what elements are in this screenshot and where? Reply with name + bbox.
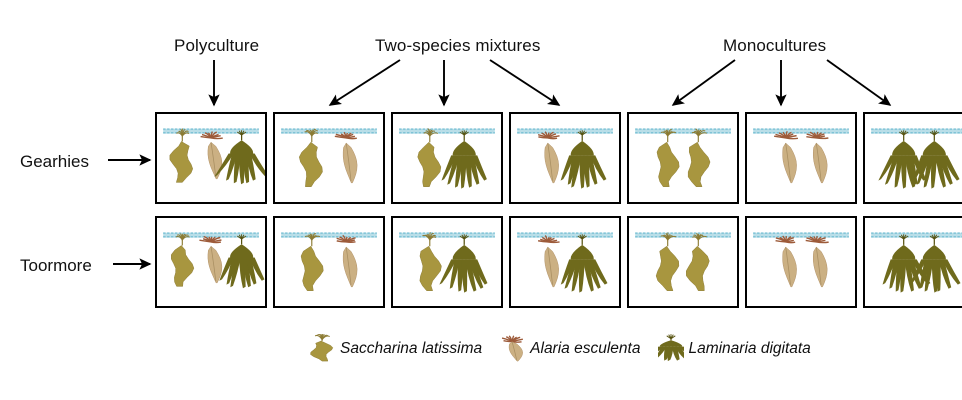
treatment-illustration	[393, 218, 501, 306]
saccharina-glyph	[310, 334, 336, 364]
panel-row-toormore	[155, 216, 962, 308]
experimental-design-figure: Polyculture Two-species mixtures Monocul…	[0, 0, 962, 400]
legend-label-laminaria: Laminaria digitata	[688, 340, 810, 358]
treatment-illustration	[275, 114, 383, 202]
treatment-panel	[273, 112, 385, 204]
group-label-polyculture: Polyculture	[174, 36, 259, 56]
legend-item-laminaria: Laminaria digitata	[658, 334, 810, 364]
treatment-panel	[391, 216, 503, 308]
treatment-illustration	[629, 218, 737, 306]
treatment-panel	[745, 112, 857, 204]
treatment-panel	[863, 216, 962, 308]
arrow-two-species-right	[490, 60, 559, 105]
treatment-panel	[509, 216, 621, 308]
treatment-panel	[273, 216, 385, 308]
treatment-illustration	[157, 218, 265, 306]
legend-item-alaria: Alaria esculenta	[500, 334, 640, 364]
treatment-illustration	[865, 114, 962, 202]
treatment-illustration	[511, 218, 619, 306]
treatment-panel	[745, 216, 857, 308]
treatment-panel	[155, 216, 267, 308]
laminaria-icon	[658, 334, 684, 364]
site-label-gearhies: Gearhies	[20, 152, 89, 172]
treatment-illustration	[157, 114, 265, 202]
legend-label-alaria: Alaria esculenta	[530, 340, 640, 358]
site-label-toormore: Toormore	[20, 256, 92, 276]
treatment-illustration	[393, 114, 501, 202]
treatment-panel	[863, 112, 962, 204]
group-label-two-species-mixtures: Two-species mixtures	[375, 36, 540, 56]
treatment-panel	[627, 216, 739, 308]
arrow-monoculture-right	[827, 60, 890, 105]
treatment-illustration	[275, 218, 383, 306]
treatment-illustration	[629, 114, 737, 202]
treatment-panel	[155, 112, 267, 204]
saccharina-icon	[310, 334, 336, 364]
legend-item-saccharina: Saccharina latissima	[310, 334, 482, 364]
treatment-illustration	[747, 114, 855, 202]
treatment-panel	[391, 112, 503, 204]
panel-row-gearhies	[155, 112, 962, 204]
laminaria-glyph	[658, 334, 684, 364]
treatment-illustration	[511, 114, 619, 202]
treatment-illustration	[865, 218, 962, 306]
species-legend: Saccharina latissima Alaria esculenta La…	[310, 334, 829, 364]
treatment-illustration	[747, 218, 855, 306]
group-label-monocultures: Monocultures	[723, 36, 826, 56]
treatment-panel	[509, 112, 621, 204]
arrow-monoculture-left	[673, 60, 735, 105]
alaria-icon	[500, 334, 526, 364]
treatment-panel	[627, 112, 739, 204]
legend-label-saccharina: Saccharina latissima	[340, 340, 482, 358]
arrow-two-species-left	[330, 60, 400, 105]
alaria-glyph	[500, 334, 526, 364]
